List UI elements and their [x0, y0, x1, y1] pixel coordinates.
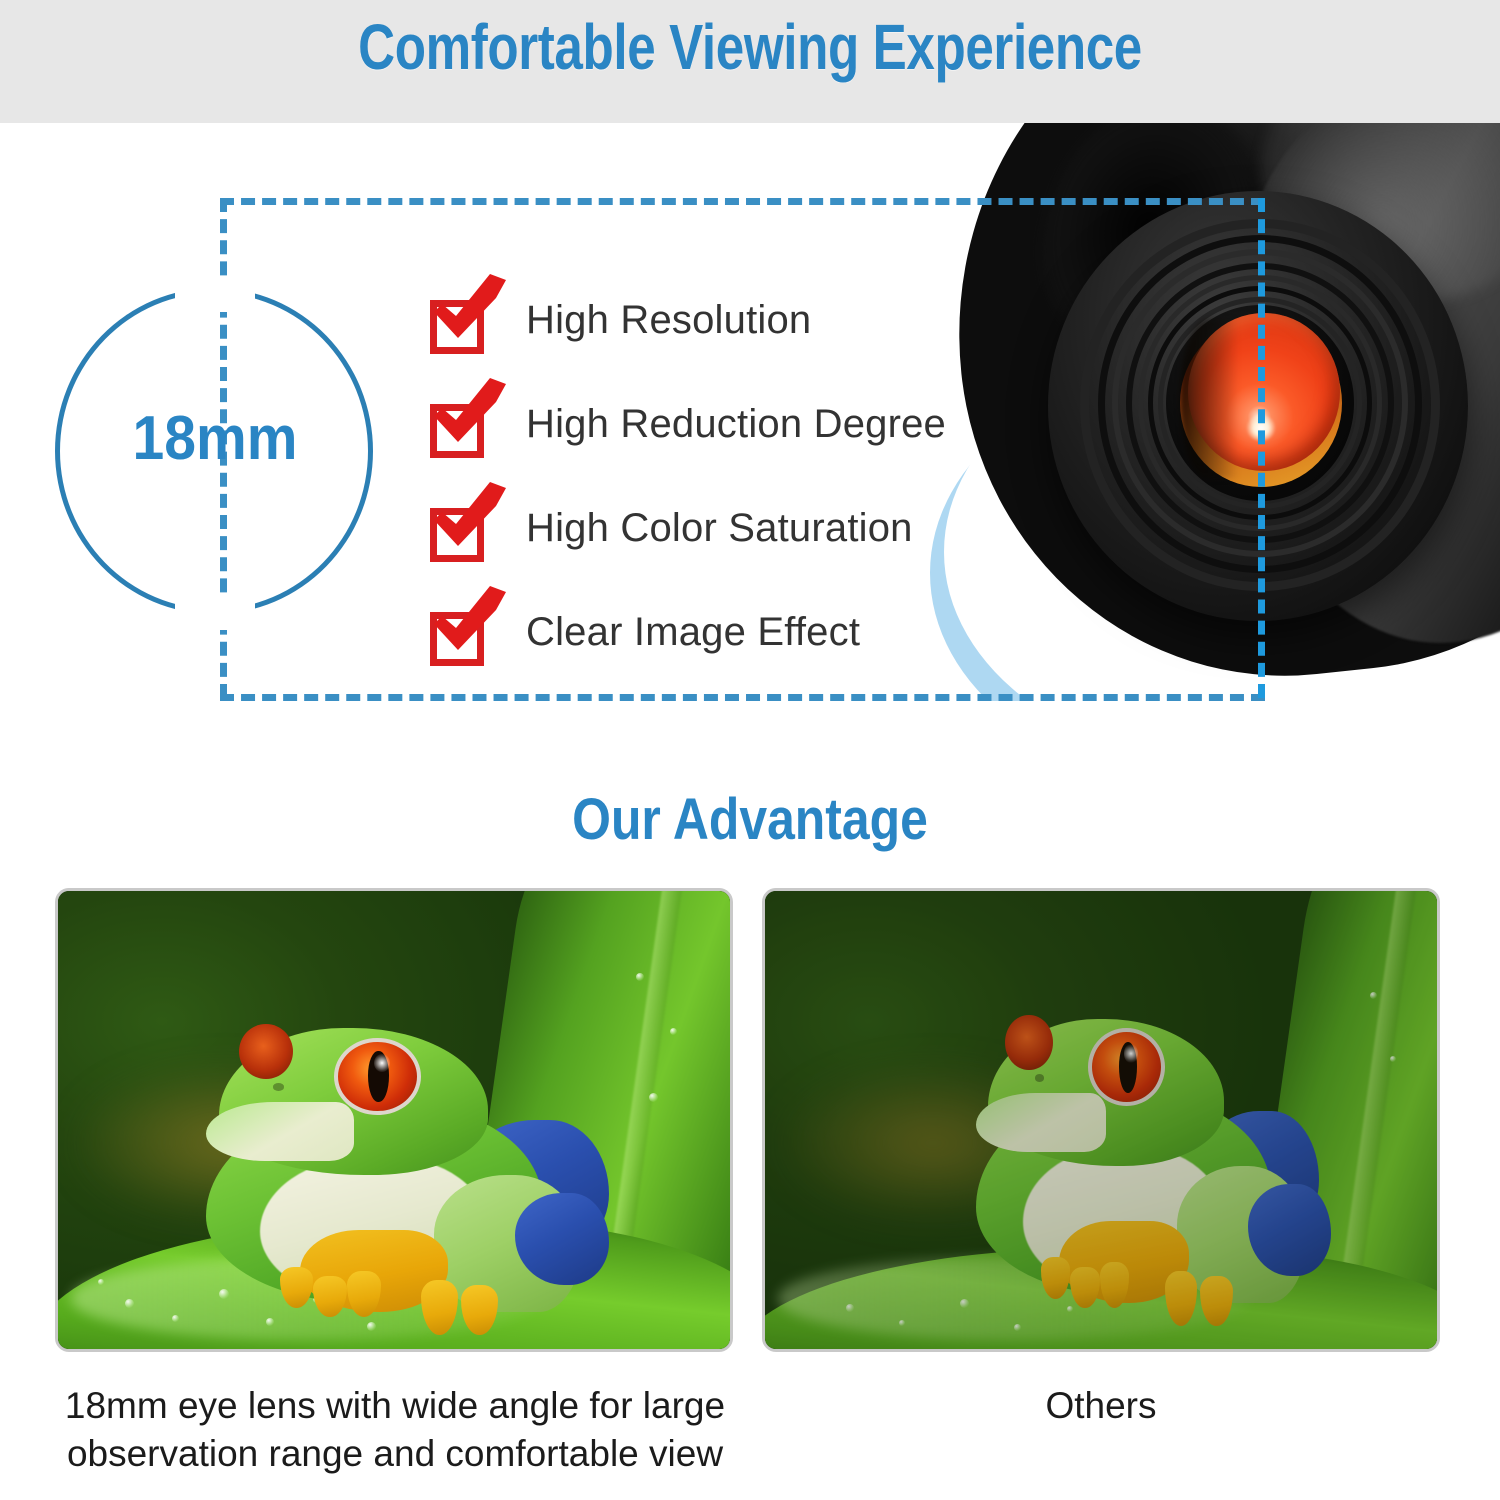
eyepiece-photo — [930, 123, 1500, 701]
checkbox-box — [430, 612, 484, 666]
frog-eye-far — [239, 1024, 293, 1079]
caption-ours: 18mm eye lens with wide angle for large … — [40, 1382, 750, 1478]
caption-others: Others — [762, 1382, 1440, 1430]
feature-item: Clear Image Effect — [430, 604, 950, 708]
checkbox-box — [430, 300, 484, 354]
diameter-label: 18mm — [68, 403, 362, 474]
section-title-advantage: Our Advantage — [105, 786, 1395, 853]
checkbox-box — [430, 404, 484, 458]
frog-scene-ours — [58, 891, 730, 1349]
feature-item: High Color Saturation — [430, 500, 950, 604]
frog-scene-others — [765, 891, 1437, 1349]
comparison-photo-ours — [55, 888, 733, 1352]
checkbox-box — [430, 508, 484, 562]
circle-gap-mask-top — [175, 278, 255, 312]
others-quality-dim-overlay — [765, 891, 1437, 1349]
frog-snout — [206, 1102, 354, 1162]
feature-item: High Resolution — [430, 292, 950, 396]
feature-label: High Reduction Degree — [526, 402, 946, 447]
frog-toe — [280, 1267, 314, 1308]
page-title: Comfortable Viewing Experience — [150, 10, 1350, 84]
dashed-guide-right — [1258, 198, 1265, 698]
tree-frog — [58, 891, 730, 1349]
feature-label: High Color Saturation — [526, 506, 913, 551]
frog-toe — [461, 1285, 498, 1335]
feature-label: High Resolution — [526, 298, 811, 343]
lens-edge-shadow — [1180, 319, 1238, 479]
comparison-photo-others — [762, 888, 1440, 1352]
frog-toe — [313, 1276, 347, 1317]
feature-item: High Reduction Degree — [430, 396, 950, 500]
frog-eye-glint — [374, 1054, 390, 1072]
frog-blue-flank-lower — [515, 1193, 609, 1285]
circle-gap-mask-bottom — [175, 596, 255, 630]
frog-toe — [421, 1280, 458, 1335]
frog-nostril — [273, 1083, 284, 1090]
dashed-guide-top — [220, 198, 1265, 205]
feature-label: Clear Image Effect — [526, 610, 860, 655]
feature-list: High Resolution High Reduction Degree Hi… — [430, 292, 950, 708]
product-feature-page: Comfortable Viewing Experience 18mm — [0, 0, 1500, 1500]
